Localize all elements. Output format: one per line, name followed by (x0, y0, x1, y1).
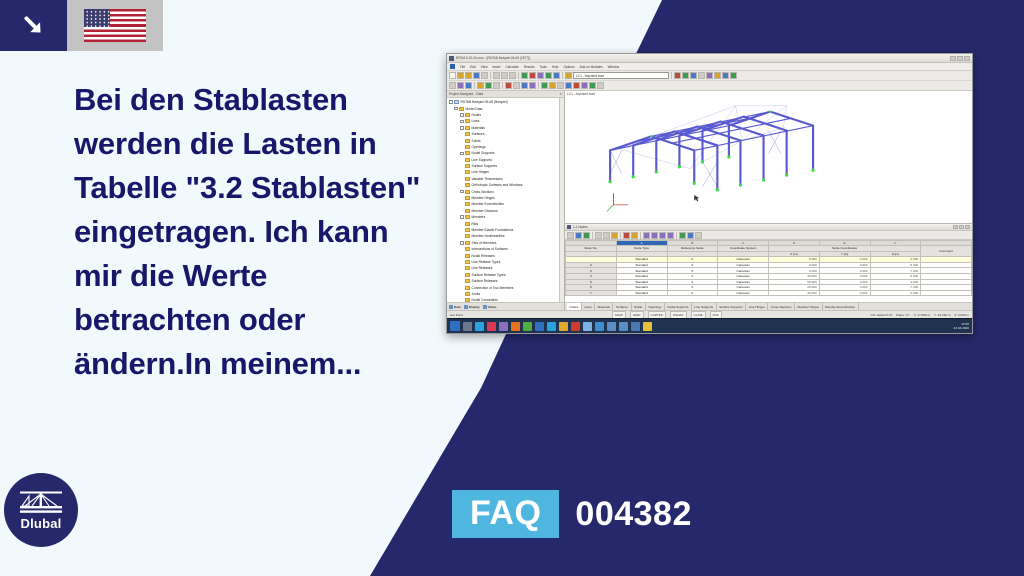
navigator-tab-display[interactable]: Display (464, 305, 480, 309)
close-button[interactable] (964, 56, 970, 61)
cell-x[interactable]: 40.000 (769, 290, 820, 296)
folder-icon (465, 119, 470, 123)
main-toolbar[interactable]: LC1 - Imposed load (447, 71, 972, 81)
navigator-item-label: Model Data (466, 107, 483, 111)
cell-node-no[interactable]: 7 (566, 290, 617, 296)
navigator-item-label: Nodal Releases (472, 254, 495, 258)
folder-icon (465, 241, 470, 245)
taskbar-clock[interactable]: 15:38 23.03.2020 (954, 322, 969, 331)
toolbar-calculate-icon[interactable] (553, 72, 560, 79)
draw-surface-icon[interactable] (477, 82, 484, 89)
menu-insert[interactable]: Insert (493, 65, 501, 69)
expand-placeholder-icon (460, 184, 464, 188)
toolbar-undo-icon[interactable] (521, 72, 528, 79)
sheet-tab[interactable]: Nodes (567, 303, 582, 311)
folder-icon (465, 228, 470, 232)
folder-icon (465, 202, 470, 206)
navigator-item-label: Materials (472, 126, 485, 130)
toolbar-render-icon[interactable] (545, 72, 552, 79)
maximize-button[interactable] (957, 56, 963, 61)
workspace: LC1 - Imposed load (565, 91, 972, 310)
table-titlebar: 1.1 Nodes (565, 224, 972, 231)
folder-icon (465, 126, 470, 130)
secondary-toolbar[interactable] (447, 81, 972, 91)
sheet-tab[interactable]: Solids (632, 303, 646, 311)
toolbar-grid-icon[interactable] (698, 72, 705, 79)
expand-placeholder-icon (460, 228, 464, 232)
table-icon (567, 225, 571, 229)
navigator-item-label: Openings (472, 145, 486, 149)
folder-icon (465, 260, 470, 264)
toolbar-paste-icon[interactable] (509, 72, 516, 79)
data-icon (449, 305, 453, 309)
navigator-item-label: Intersections of Surfaces (472, 247, 508, 251)
nodal-supports (608, 110, 814, 191)
folder-icon (465, 145, 470, 149)
load-case-select[interactable]: LC1 - Imposed load (573, 72, 669, 79)
window-titlebar: RFEM 5.22.02.xxxx - [RSTAB Beispiel 05.r… (447, 54, 972, 63)
taskview-icon[interactable] (463, 322, 472, 331)
folder-icon (459, 107, 464, 111)
notes-icon[interactable] (643, 322, 652, 331)
navigator-tabs[interactable]: Data Display Views (447, 302, 564, 310)
toolbar-view-icon[interactable] (722, 72, 729, 79)
navigator-tab-views-label: Views (488, 305, 497, 309)
expand-placeholder-icon (460, 164, 464, 168)
table-head: A B C D E F Node No. (566, 241, 972, 257)
minimize-button[interactable] (950, 56, 956, 61)
folder-icon (465, 254, 470, 258)
navigator-item-label: Joints (472, 292, 481, 296)
draw-member-icon[interactable] (465, 82, 472, 89)
toolbar-cut-icon[interactable] (493, 72, 500, 79)
navigator-root-label: RSTAB Beispiel 05.rf5 (Beispiel) (461, 100, 508, 104)
app-icon (449, 56, 454, 61)
menu-tools[interactable]: Tools (539, 65, 546, 69)
expand-placeholder-icon (460, 222, 464, 226)
sheet-tab[interactable]: Line Hinges (746, 303, 768, 311)
views-icon (483, 305, 487, 309)
teams-icon[interactable] (595, 322, 604, 331)
rfem-active-icon[interactable] (631, 322, 640, 331)
navigator-tab-data[interactable]: Data (449, 305, 461, 309)
expand-placeholder-icon (460, 267, 464, 271)
table-next-icon[interactable] (659, 232, 666, 239)
folder-icon (465, 196, 470, 200)
expand-placeholder-icon (460, 292, 464, 296)
navigator-item-label: Line Releases (472, 266, 493, 270)
display-props-icon[interactable] (589, 82, 596, 89)
folder-icon (465, 151, 470, 155)
navigator-item-label: Surface Releases (472, 279, 498, 283)
folder-icon (465, 215, 470, 219)
truss-bridge-icon (19, 490, 63, 514)
menu-options[interactable]: Options (563, 65, 574, 69)
sheet-tab[interactable]: Cross-Sections (768, 303, 795, 311)
menu-file[interactable]: File (460, 65, 465, 69)
status-cs: CS: Global XYZ (871, 313, 893, 317)
folder-icon (465, 273, 470, 277)
expand-icon[interactable] (460, 152, 464, 156)
expand-icon[interactable] (460, 126, 464, 130)
folder-icon (465, 247, 470, 251)
sheet-tab[interactable]: Materials (595, 303, 613, 311)
expand-placeholder-icon (460, 260, 464, 264)
toolbar-results-icon[interactable] (674, 72, 681, 79)
table-paste-icon[interactable] (611, 232, 618, 239)
sheet-tab[interactable]: Surfaces (613, 303, 631, 311)
folder-icon (465, 292, 470, 296)
table-title: 1.1 Nodes (573, 225, 588, 229)
menu-calculate[interactable]: Calculate (505, 65, 518, 69)
folder-icon (465, 132, 470, 136)
toolbar-separator (474, 82, 475, 89)
rstab-icon[interactable] (607, 322, 616, 331)
dlubal-logo: Dlubal (4, 473, 78, 547)
navigator-item-label: Surfaces (472, 132, 485, 136)
cell-z[interactable]: 0.000 (870, 290, 921, 296)
navigator-item-label: Members (472, 215, 486, 219)
cell-reference-node[interactable]: 0 (667, 290, 718, 296)
folder-icon (465, 286, 470, 290)
toolbar-print-icon[interactable] (473, 72, 480, 79)
folder-icon (465, 279, 470, 283)
table-window-controls[interactable] (953, 225, 970, 229)
navigator-item-label: Solids (472, 139, 481, 143)
expand-placeholder-icon (460, 254, 464, 258)
table-print-icon[interactable] (695, 232, 702, 239)
navigator-item-label: Orthotropic Surfaces and Windows (472, 183, 523, 187)
window-controls[interactable] (950, 56, 970, 61)
status-z: Z: 0.000 m (954, 313, 969, 317)
cell-comment[interactable] (921, 290, 972, 296)
toolbar-open-icon[interactable] (457, 72, 464, 79)
pdf-reader-icon[interactable] (571, 322, 580, 331)
navigator-tab-data-label: Data (454, 305, 461, 309)
toolbar-separator (490, 72, 491, 79)
folder-icon (465, 183, 470, 187)
status-y: Y: 19.190 m (934, 313, 950, 317)
table-toolbar[interactable] (565, 231, 972, 240)
toolbar-separator (620, 232, 621, 239)
display-icon (464, 305, 468, 309)
table-prev-icon[interactable] (651, 232, 658, 239)
toolbar-separator (518, 72, 519, 79)
page-title: Bei den Stablasten werden die Lasten in … (74, 78, 424, 386)
folder-icon (465, 209, 470, 213)
navigator-close-icon[interactable]: ✕ (559, 92, 562, 96)
windows-taskbar[interactable]: 15:38 23.03.2020 (447, 318, 972, 333)
navigator-item-label: Line Supports (472, 158, 492, 162)
rfem-application-window[interactable]: RFEM 5.22.02.xxxx - [RSTAB Beispiel 05.r… (446, 53, 973, 334)
paint-icon[interactable] (583, 322, 592, 331)
annotation-icon[interactable] (549, 82, 556, 89)
navigator-item-label: Line Hinges (472, 170, 489, 174)
toolbar-redo-icon[interactable] (529, 72, 536, 79)
cell-node-type[interactable]: Standard (616, 290, 667, 296)
th-comment: Comment (921, 246, 972, 257)
expand-icon[interactable] (460, 190, 464, 194)
menu-view[interactable]: View (481, 65, 488, 69)
table-maximize-button[interactable] (959, 225, 964, 229)
toolbar-separator (671, 72, 672, 79)
expand-placeholder-icon (460, 139, 464, 143)
table-settings-icon[interactable] (679, 232, 686, 239)
section-icon[interactable] (557, 82, 564, 89)
sheet-tab[interactable]: Member Eccentricities (823, 303, 859, 311)
cell-y[interactable]: 0.000 (819, 290, 870, 296)
start-button-icon[interactable] (450, 321, 460, 331)
faq-number: 004382 (575, 495, 691, 534)
menu-help[interactable]: Help (552, 65, 559, 69)
folder-icon (465, 222, 470, 226)
navigator-item-label: Surface Release Types (472, 273, 506, 277)
table-minimize-button[interactable] (953, 225, 958, 229)
menu-addon-modules[interactable]: Add-on Modules (579, 65, 602, 69)
faq-slide: Bei den Stablasten werden die Lasten in … (0, 0, 1024, 576)
folder-icon (465, 164, 470, 168)
table-insert-icon[interactable] (583, 232, 590, 239)
table-export-icon[interactable] (687, 232, 694, 239)
expand-icon[interactable] (460, 113, 464, 117)
toolbar-copy-icon[interactable] (501, 72, 508, 79)
dimension-icon[interactable] (541, 82, 548, 89)
table-last-icon[interactable] (667, 232, 674, 239)
navigator-item-label: Connection of Two Members (472, 286, 514, 290)
table-row[interactable]: 7Standard0Cartesian40.0000.0000.000 (566, 290, 972, 296)
table-grid-wrapper[interactable]: A B C D E F Node No. (565, 240, 972, 302)
model-file-icon (454, 100, 459, 104)
status-x: X: 17.869 m (914, 313, 930, 317)
rotate-objects-icon[interactable] (521, 82, 528, 89)
menu-bar[interactable]: File Edit View Insert Calculate Results … (447, 63, 972, 71)
navigator-scrollbar[interactable] (559, 98, 564, 302)
sheet-tab[interactable]: Nodal Supports (665, 303, 692, 311)
navigator-item-label: Sets of Members (472, 241, 497, 245)
outlook-icon[interactable] (547, 322, 556, 331)
folder-icon (465, 234, 470, 238)
table-copy-icon[interactable] (603, 232, 610, 239)
sheet-tab[interactable]: Lines (582, 303, 595, 311)
folder-icon (465, 266, 470, 270)
toolbar-loadcase-icon[interactable] (565, 72, 572, 79)
expand-placeholder-icon (460, 177, 464, 181)
expand-placeholder-icon (460, 247, 464, 251)
model-3d-view[interactable]: LC1 - Imposed load (565, 91, 972, 224)
toolbar-separator (538, 82, 539, 89)
toolbar-new-icon[interactable] (449, 72, 456, 79)
toolbar-preview-icon[interactable] (481, 72, 488, 79)
visibility-icon[interactable] (565, 82, 572, 89)
expand-placeholder-icon (460, 279, 464, 283)
table-panel[interactable]: 1.1 Nodes (565, 224, 972, 310)
draw-line-icon[interactable] (457, 82, 464, 89)
navigator-item-label: Ribs (472, 222, 479, 226)
navigator-item-label: Nodes (472, 113, 482, 117)
toolbar-deform-icon[interactable] (682, 72, 689, 79)
folder-icon (465, 158, 470, 162)
folder-icon (465, 139, 470, 143)
toolbar-help-icon[interactable] (730, 72, 737, 79)
menu-results[interactable]: Results (524, 65, 535, 69)
expand-placeholder-icon (460, 196, 464, 200)
draw-load-icon[interactable] (493, 82, 500, 89)
project-navigator[interactable]: Project Navigator - Data ✕ RSTAB Beispie… (447, 91, 565, 310)
folder-icon (465, 177, 470, 181)
navigator-item-label: Member Elastic Foundations (472, 228, 514, 232)
us-flag-icon (84, 9, 146, 42)
expand-placeholder-icon (460, 273, 464, 277)
rfem-window-icon[interactable] (619, 322, 628, 331)
group-icon[interactable] (573, 82, 580, 89)
draw-support-icon[interactable] (485, 82, 492, 89)
toolbar-zoom-icon[interactable] (537, 72, 544, 79)
structure-model-svg (565, 91, 972, 223)
navigator-item-label: Member Eccentricities (472, 202, 504, 206)
edge-browser-icon[interactable] (475, 322, 484, 331)
table-find-icon[interactable] (623, 232, 630, 239)
cursor-icon (694, 195, 699, 202)
model-icon (450, 64, 455, 69)
table-new-row-icon[interactable] (567, 232, 574, 239)
navigator-tree[interactable]: RSTAB Beispiel 05.rf5 (Beispiel) Model D… (447, 98, 559, 302)
navigator-item-label: Line Release Types (472, 260, 501, 264)
folder-icon (465, 190, 470, 194)
faq-badge: FAQ 004382 (452, 490, 692, 538)
logo-text: Dlubal (21, 516, 62, 531)
arrow-down-right-icon (21, 13, 47, 39)
table-delete-row-icon[interactable] (575, 232, 582, 239)
status-left: Get Point (450, 313, 463, 317)
cell-coordinate-system[interactable]: Cartesian (718, 290, 769, 296)
folder-icon (465, 170, 470, 174)
table-first-icon[interactable] (643, 232, 650, 239)
expand-placeholder-icon (460, 132, 464, 136)
store-icon[interactable] (499, 322, 508, 331)
expand-placeholder-icon (460, 203, 464, 207)
expand-placeholder-icon (460, 286, 464, 290)
toolbar-isolines-icon[interactable] (690, 72, 697, 79)
expand-placeholder-icon (460, 158, 464, 162)
expand-icon[interactable] (449, 100, 453, 104)
status-bar: Get Point SNAP GRID CARTES OSNAP GLINE D… (447, 310, 972, 318)
sheet-tab[interactable]: Surface Supports (717, 303, 747, 311)
word-icon[interactable] (535, 322, 544, 331)
navigator-item-label: Nodal Supports (472, 151, 495, 155)
faq-label: FAQ (452, 490, 559, 538)
sheet-tab[interactable]: Openings (646, 303, 665, 311)
select-objects-icon[interactable] (505, 82, 512, 89)
navigator-item-label: Variable Thicknesses (472, 177, 503, 181)
excel-icon[interactable] (523, 322, 532, 331)
menu-edit[interactable]: Edit (470, 65, 476, 69)
expand-icon[interactable] (460, 215, 464, 219)
expand-placeholder-icon (460, 171, 464, 175)
expand-placeholder-icon (460, 235, 464, 239)
navigator-title: Project Navigator - Data (449, 92, 483, 96)
navigator-item-label: Member Divisions (472, 209, 498, 213)
flag-stars (84, 9, 110, 27)
expand-placeholder-icon (460, 145, 464, 149)
mirror-objects-icon[interactable] (529, 82, 536, 89)
toolbar-layers-icon[interactable] (714, 72, 721, 79)
navigator-item-label: Member Nonlinearities (472, 234, 505, 238)
table-close-button[interactable] (965, 225, 970, 229)
print-region-icon[interactable] (597, 82, 604, 89)
navigator-item-label: Cross-Sections (472, 190, 494, 194)
draw-node-icon[interactable] (449, 82, 456, 89)
toolbar-save-icon[interactable] (465, 72, 472, 79)
nodes-table[interactable]: A B C D E F Node No. (565, 240, 972, 296)
explorer-icon[interactable] (559, 322, 568, 331)
navigator-item-label: Surface Supports (472, 164, 497, 168)
navigator-item-label: Lines (472, 119, 480, 123)
sheet-tab[interactable]: Line Supports (692, 303, 717, 311)
toolbar-separator (562, 72, 563, 79)
toolbar-snap-icon[interactable] (706, 72, 713, 79)
expand-icon[interactable] (460, 120, 464, 124)
sheet-tab[interactable]: Member Hinges (795, 303, 823, 311)
expand-icon[interactable] (454, 107, 458, 111)
folder-icon (465, 113, 470, 117)
window-title: RFEM 5.22.02.xxxx - [RSTAB Beispiel 05.r… (456, 56, 530, 60)
expand-placeholder-icon (460, 209, 464, 213)
filter-icon[interactable] (581, 82, 588, 89)
toolbar-separator (676, 232, 677, 239)
navigator-header: Project Navigator - Data ✕ (447, 91, 564, 98)
coordinate-axes (607, 193, 628, 211)
table-cut-icon[interactable] (595, 232, 602, 239)
navigator-tab-views[interactable]: Views (483, 305, 497, 309)
move-objects-icon[interactable] (513, 82, 520, 89)
toolbar-separator (592, 232, 593, 239)
table-body[interactable]: 1Standard0Cartesian0.0000.0000.0002Stand… (566, 257, 972, 296)
toolbar-separator (640, 232, 641, 239)
table-filter-icon[interactable] (631, 232, 638, 239)
firefox-icon[interactable] (511, 322, 520, 331)
arrow-chip (0, 0, 67, 51)
navigator-item-label: Member Hinges (472, 196, 495, 200)
window-body: Project Navigator - Data ✕ RSTAB Beispie… (447, 91, 972, 310)
menu-window[interactable]: Window (608, 65, 619, 69)
navigator-tab-display-label: Display (469, 305, 480, 309)
toolbar-separator (502, 82, 503, 89)
table-sheet-tabs[interactable]: NodesLinesMaterialsSurfacesSolidsOpening… (565, 302, 972, 310)
language-flag-chip[interactable] (67, 0, 163, 51)
status-plane: Plane: XY (896, 313, 910, 317)
media-player-icon[interactable] (487, 322, 496, 331)
expand-icon[interactable] (460, 241, 464, 245)
clock-date: 23.03.2020 (954, 326, 969, 331)
